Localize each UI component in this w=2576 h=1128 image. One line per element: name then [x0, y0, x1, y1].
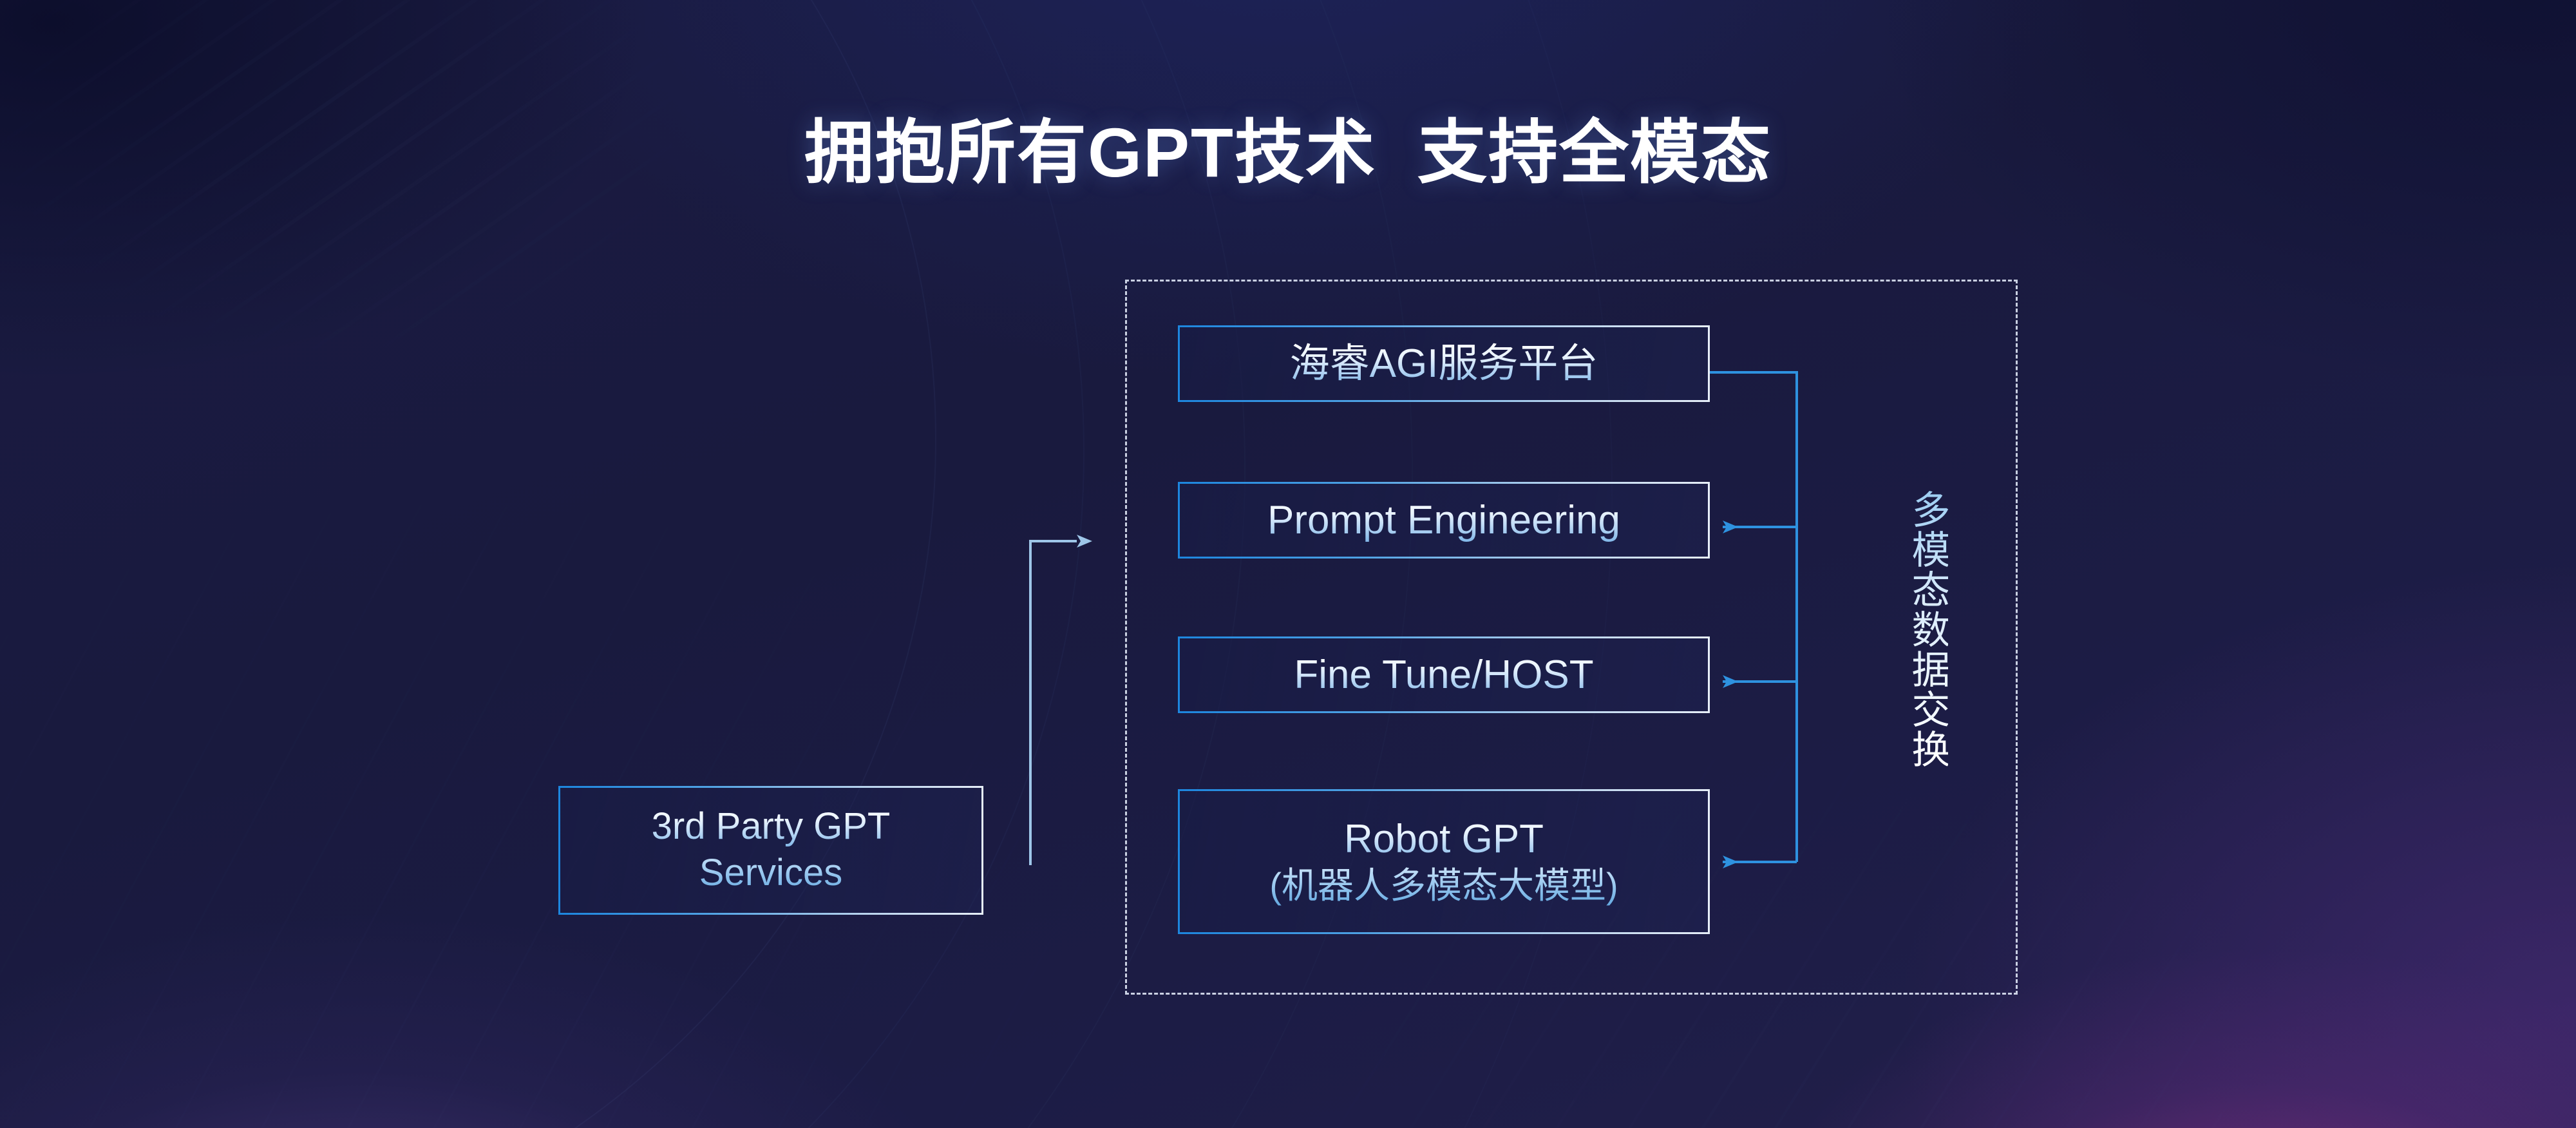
- node-label-primary: Prompt Engineering: [1267, 498, 1620, 542]
- node-label-primary: Fine Tune/HOST: [1294, 653, 1593, 697]
- slide-title: 拥抱所有GPT技术 支持全模态: [0, 113, 2576, 193]
- multimodal-data-exchange-label: 多模态数据交换: [1903, 490, 1948, 769]
- node-label-primary: Robot GPT: [1344, 817, 1544, 861]
- node-label-secondary: Services: [699, 852, 842, 895]
- node-prompt-engineering[interactable]: Prompt Engineering: [1178, 482, 1710, 559]
- node-agi-platform[interactable]: 海睿AGI服务平台: [1178, 325, 1710, 402]
- node-fine-tune-host[interactable]: Fine Tune/HOST: [1178, 636, 1710, 713]
- node-label-primary: 海睿AGI服务平台: [1290, 341, 1598, 386]
- slide-canvas: 拥抱所有GPT技术 支持全模态 海睿AGI服务平台 Prompt Enginee…: [0, 0, 2576, 1128]
- node-third-party-gpt-services[interactable]: 3rd Party GPT Services: [558, 786, 983, 915]
- node-label-primary: 3rd Party GPT: [652, 806, 891, 848]
- node-robot-gpt[interactable]: Robot GPT (机器人多模态大模型): [1178, 789, 1710, 934]
- node-label-secondary: (机器人多模态大模型): [1269, 865, 1618, 906]
